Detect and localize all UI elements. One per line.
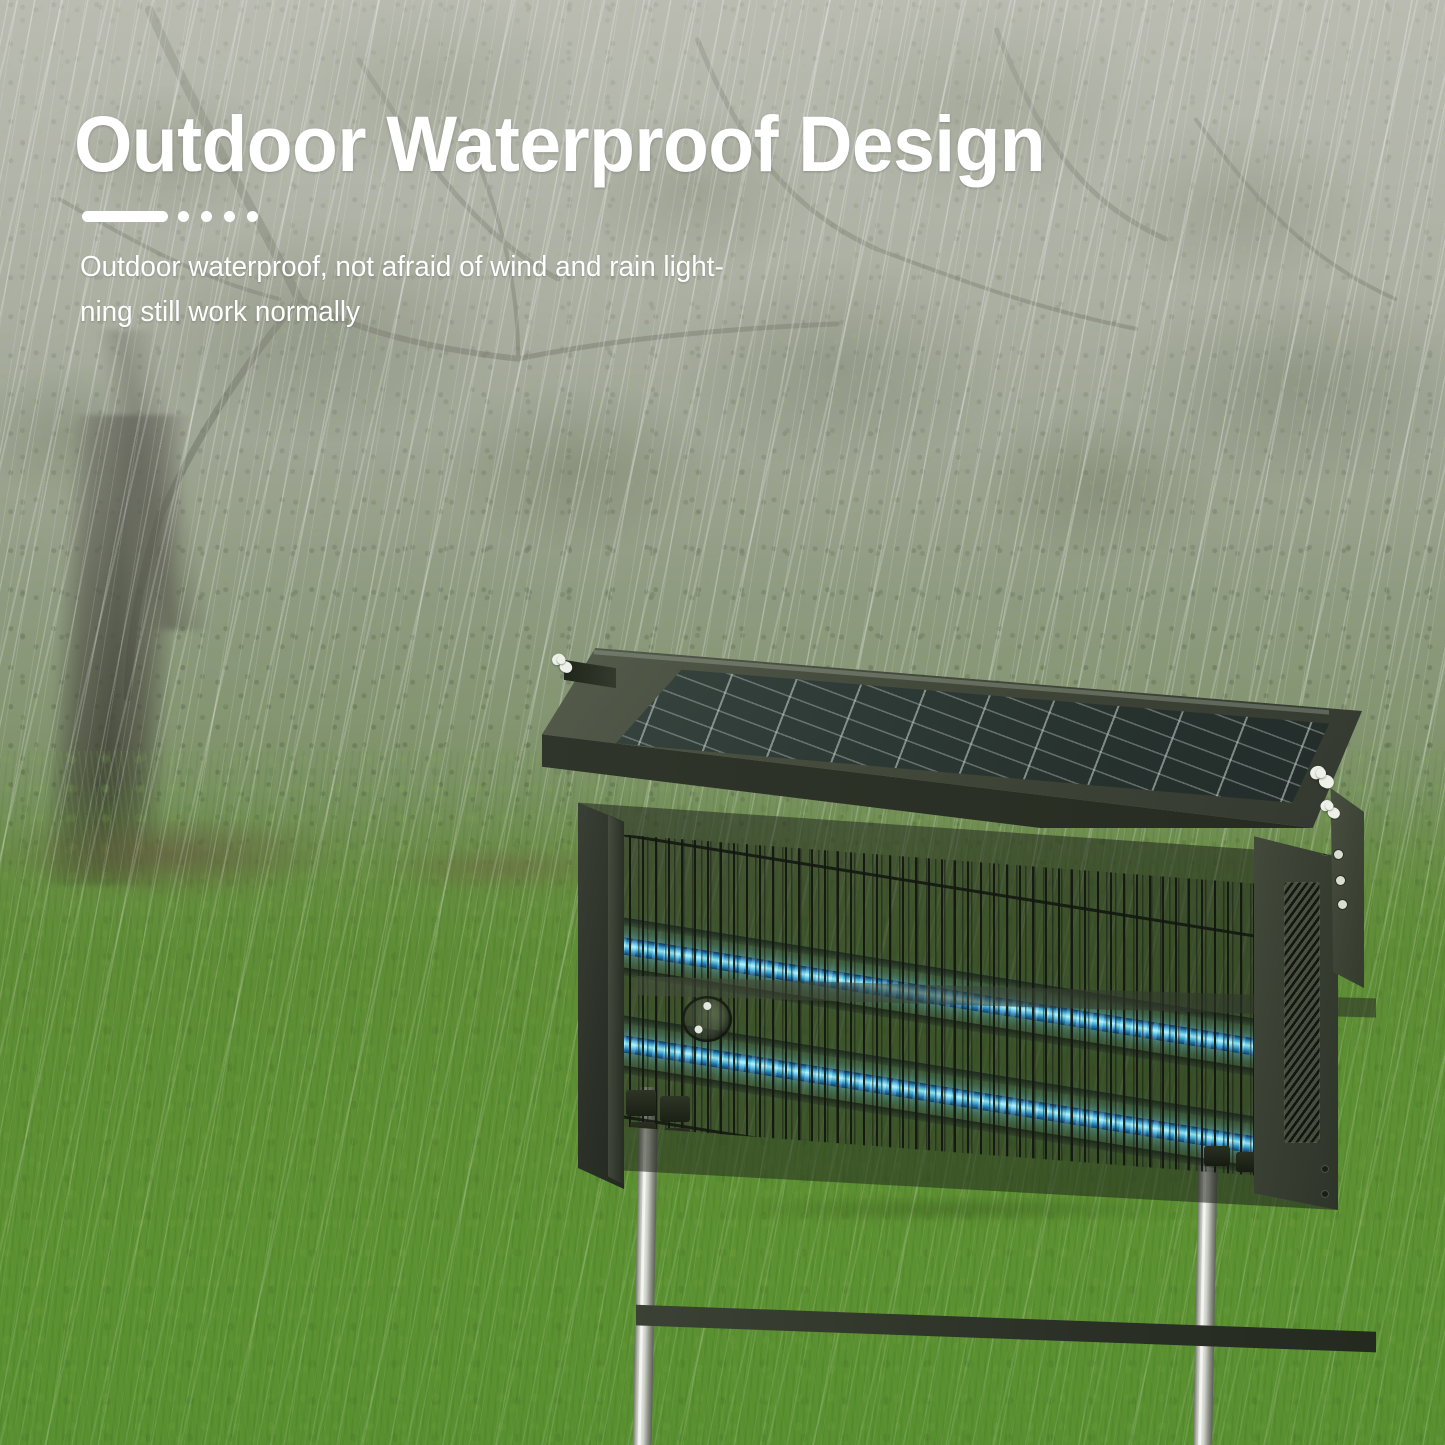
ventilation-grille-icon bbox=[1284, 882, 1320, 1142]
indicator-dot bbox=[694, 1025, 702, 1033]
zapper-housing bbox=[578, 790, 1338, 1210]
right-end-cap bbox=[1254, 790, 1338, 1210]
wing-nut-left[interactable] bbox=[552, 654, 574, 674]
page-subtitle: Outdoor waterproof, not afraid of wind a… bbox=[80, 245, 877, 335]
subtitle-line-1: Outdoor waterproof, not afraid of wind a… bbox=[80, 251, 724, 283]
page-title: Outdoor Waterproof Design bbox=[74, 104, 1045, 183]
divider bbox=[82, 211, 258, 222]
bolt-icon bbox=[1338, 900, 1347, 909]
screw-icon bbox=[1322, 1191, 1328, 1197]
divider-dot bbox=[178, 211, 189, 222]
bolt-icon bbox=[1334, 850, 1343, 859]
divider-dot bbox=[247, 211, 258, 222]
divider-bar bbox=[82, 211, 168, 222]
bolt-icon bbox=[1336, 876, 1345, 885]
marketing-banner: Outdoor Waterproof Design Outdoor waterp… bbox=[0, 0, 1445, 1445]
corner-fitting bbox=[660, 1096, 690, 1122]
indicator-dot bbox=[703, 1002, 711, 1010]
tray-clip bbox=[1204, 1146, 1230, 1166]
wing-nut-body bbox=[1325, 802, 1333, 810]
divider-dot bbox=[224, 211, 235, 222]
cage-bottom-rim bbox=[636, 1275, 1376, 1365]
screw-icon bbox=[1322, 849, 1328, 855]
product-bug-zapper bbox=[520, 620, 1400, 1445]
wing-nut-body bbox=[1316, 768, 1326, 778]
wing-nut-right-upper[interactable] bbox=[1310, 766, 1336, 790]
wing-nut-right-lower[interactable] bbox=[1320, 800, 1341, 820]
divider-dots bbox=[178, 211, 258, 222]
subtitle-line-2: ning still work normally bbox=[80, 296, 360, 328]
wing-nut-body bbox=[557, 656, 566, 665]
corner-fitting bbox=[626, 1090, 656, 1116]
left-front-lip bbox=[608, 790, 624, 1210]
solar-panel-roof bbox=[542, 648, 1362, 828]
divider-dot bbox=[201, 211, 212, 222]
screw-icon bbox=[1322, 1166, 1328, 1172]
